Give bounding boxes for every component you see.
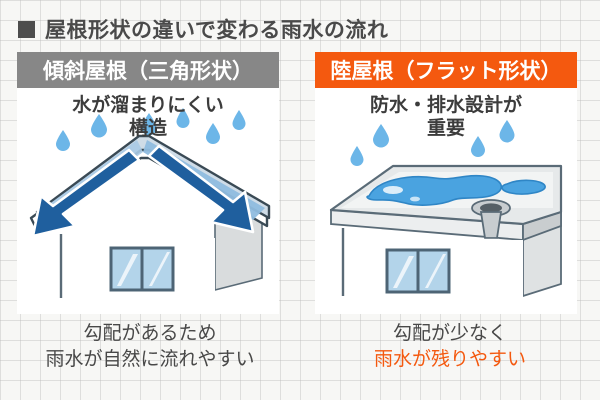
caption-sloped-roof: 勾配があるため 雨水が自然に流れやすい [5,320,295,372]
caption-line-2-highlight: 雨水が残りやすい [305,346,595,372]
panel-flat-roof: 陸屋根（フラット形状） 防水・排水設計が 重要 [315,52,577,314]
window-icon [387,250,449,292]
panel-header-sloped-roof: 傾斜屋根（三角形状） [17,52,279,88]
puddle-highlight [410,197,420,202]
panel-body-sloped-roof: 水が溜まりにくい 構造 [17,88,279,314]
window-icon [111,248,173,290]
panel-body-flat-roof: 防水・排水設計が 重要 [315,88,577,314]
filled-square-bullet-icon [18,21,35,38]
caption-line-1: 勾配が少なく [305,320,595,346]
panel-sloped-roof: 傾斜屋根（三角形状） 水が溜まりにくい 構造 [17,52,279,314]
caption-flat-roof: 勾配が少なく 雨水が残りやすい [305,320,595,372]
panel-header-flat-roof: 陸屋根（フラット形状） [315,52,577,88]
page-title-row: 屋根形状の違いで変わる雨水の流れ [0,10,600,48]
raindrop-icon [351,146,364,166]
left-flow-arrow-icon [33,150,139,236]
puddle-highlight [383,186,403,194]
caption-line-1: 勾配があるため [5,320,295,346]
caption-line-2: 雨水が自然に流れやすい [5,346,295,372]
panel-heading-sloped-roof: 水が溜まりにくい 構造 [17,94,279,140]
panel-heading-flat-roof: 防水・排水設計が 重要 [315,94,577,140]
page-title: 屋根形状の違いで変わる雨水の流れ [45,14,388,44]
